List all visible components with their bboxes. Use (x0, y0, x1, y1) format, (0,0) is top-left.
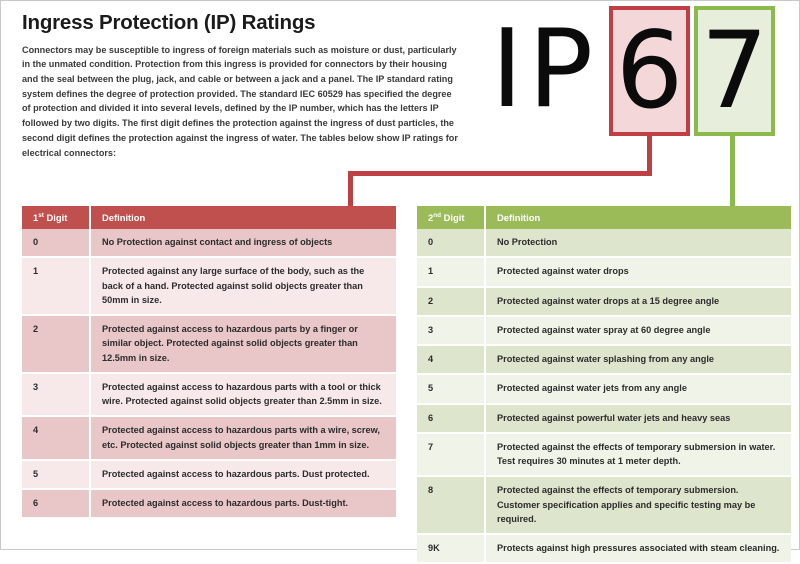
table-row: 4Protected against water splashing from … (417, 345, 791, 374)
first-digit-table: 1st Digit Definition 0No Protection agai… (22, 206, 396, 519)
connector-line-red-vertical (647, 136, 652, 176)
cell-digit: 8 (417, 476, 485, 534)
cell-digit: 6 (417, 404, 485, 433)
first-digit-table-body: 0No Protection against contact and ingre… (22, 229, 396, 518)
second-digit-callout-box: 7 (694, 6, 775, 136)
table-row: 5Protected against access to hazardous p… (22, 460, 396, 489)
table-row: 4Protected against access to hazardous p… (22, 416, 396, 460)
cell-digit: 2 (22, 315, 90, 373)
document-page: Ingress Protection (IP) Ratings Connecto… (1, 1, 799, 549)
cell-digit: 2 (417, 287, 485, 316)
ip-letter-p: P (528, 18, 593, 122)
table-row: 3Protected against water spray at 60 deg… (417, 316, 791, 345)
cell-definition: Protected against access to hazardous pa… (90, 489, 396, 518)
cell-digit: 7 (417, 433, 485, 477)
table-header-row: 2nd Digit Definition (417, 206, 791, 229)
table-row: 1Protected against any large surface of … (22, 257, 396, 315)
cell-definition: Protected against any large surface of t… (90, 257, 396, 315)
connector-line-red-horizontal (348, 171, 652, 176)
column-header-digit: 1st Digit (22, 206, 90, 229)
cell-digit: 9K (417, 534, 485, 563)
table-row: 3Protected against access to hazardous p… (22, 373, 396, 417)
table-row: 0No Protection against contact and ingre… (22, 229, 396, 257)
column-header-definition: Definition (485, 206, 791, 229)
cell-digit: 1 (22, 257, 90, 315)
table-row: 0No Protection (417, 229, 791, 257)
connector-line-red-drop (348, 171, 353, 207)
column-header-definition: Definition (90, 206, 396, 229)
cell-digit: 4 (22, 416, 90, 460)
cell-definition: Protected against water spray at 60 degr… (485, 316, 791, 345)
cell-digit: 3 (417, 316, 485, 345)
column-header-digit-word: Digit (44, 212, 67, 223)
table-row: 5Protected against water jets from any a… (417, 374, 791, 403)
table-header-row: 1st Digit Definition (22, 206, 396, 229)
cell-digit: 5 (22, 460, 90, 489)
intro-paragraph: Connectors may be susceptible to ingress… (22, 43, 462, 161)
page-title: Ingress Protection (IP) Ratings (22, 11, 462, 36)
table-row: 2Protected against water drops at a 15 d… (417, 287, 791, 316)
first-digit-callout-box: 6 (609, 6, 690, 136)
cell-definition: Protected against the effects of tempora… (485, 476, 791, 534)
table-row: 9KProtects against high pressures associ… (417, 534, 791, 563)
table-row: 6Protected against powerful water jets a… (417, 404, 791, 433)
cell-definition: Protected against powerful water jets an… (485, 404, 791, 433)
table-row: 2Protected against access to hazardous p… (22, 315, 396, 373)
connector-line-green-vertical (730, 136, 735, 207)
table-row: 8Protected against the effects of tempor… (417, 476, 791, 534)
cell-definition: No Protection (485, 229, 791, 257)
cell-definition: Protected against access to hazardous pa… (90, 460, 396, 489)
cell-definition: Protected against water splashing from a… (485, 345, 791, 374)
first-digit-value: 6 (613, 18, 686, 124)
cell-definition: Protected against water drops (485, 257, 791, 286)
table-row: 1Protected against water drops (417, 257, 791, 286)
cell-definition: Protected against access to hazardous pa… (90, 416, 396, 460)
cell-definition: Protects against high pressures associat… (485, 534, 791, 563)
cell-definition: No Protection against contact and ingres… (90, 229, 396, 257)
cell-digit: 4 (417, 345, 485, 374)
second-digit-table: 2nd Digit Definition 0No Protection1Prot… (417, 206, 791, 564)
column-header-digit-ordinal: nd (433, 212, 441, 219)
ip-letter-i: I (491, 18, 523, 122)
cell-digit: 3 (22, 373, 90, 417)
cell-definition: Protected against the effects of tempora… (485, 433, 791, 477)
intro-block: Ingress Protection (IP) Ratings Connecto… (22, 11, 462, 160)
cell-definition: Protected against access to hazardous pa… (90, 315, 396, 373)
table-row: 6Protected against access to hazardous p… (22, 489, 396, 518)
cell-definition: Protected against water drops at a 15 de… (485, 287, 791, 316)
column-header-digit-word: Digit (441, 212, 464, 223)
column-header-digit: 2nd Digit (417, 206, 485, 229)
cell-definition: Protected against access to hazardous pa… (90, 373, 396, 417)
cell-digit: 0 (417, 229, 485, 257)
cell-digit: 5 (417, 374, 485, 403)
cell-digit: 0 (22, 229, 90, 257)
second-digit-table-body: 0No Protection1Protected against water d… (417, 229, 791, 563)
ip-rating-graphic: I P 6 7 (471, 1, 800, 211)
cell-digit: 1 (417, 257, 485, 286)
second-digit-value: 7 (698, 18, 771, 124)
table-row: 7Protected against the effects of tempor… (417, 433, 791, 477)
cell-definition: Protected against water jets from any an… (485, 374, 791, 403)
cell-digit: 6 (22, 489, 90, 518)
